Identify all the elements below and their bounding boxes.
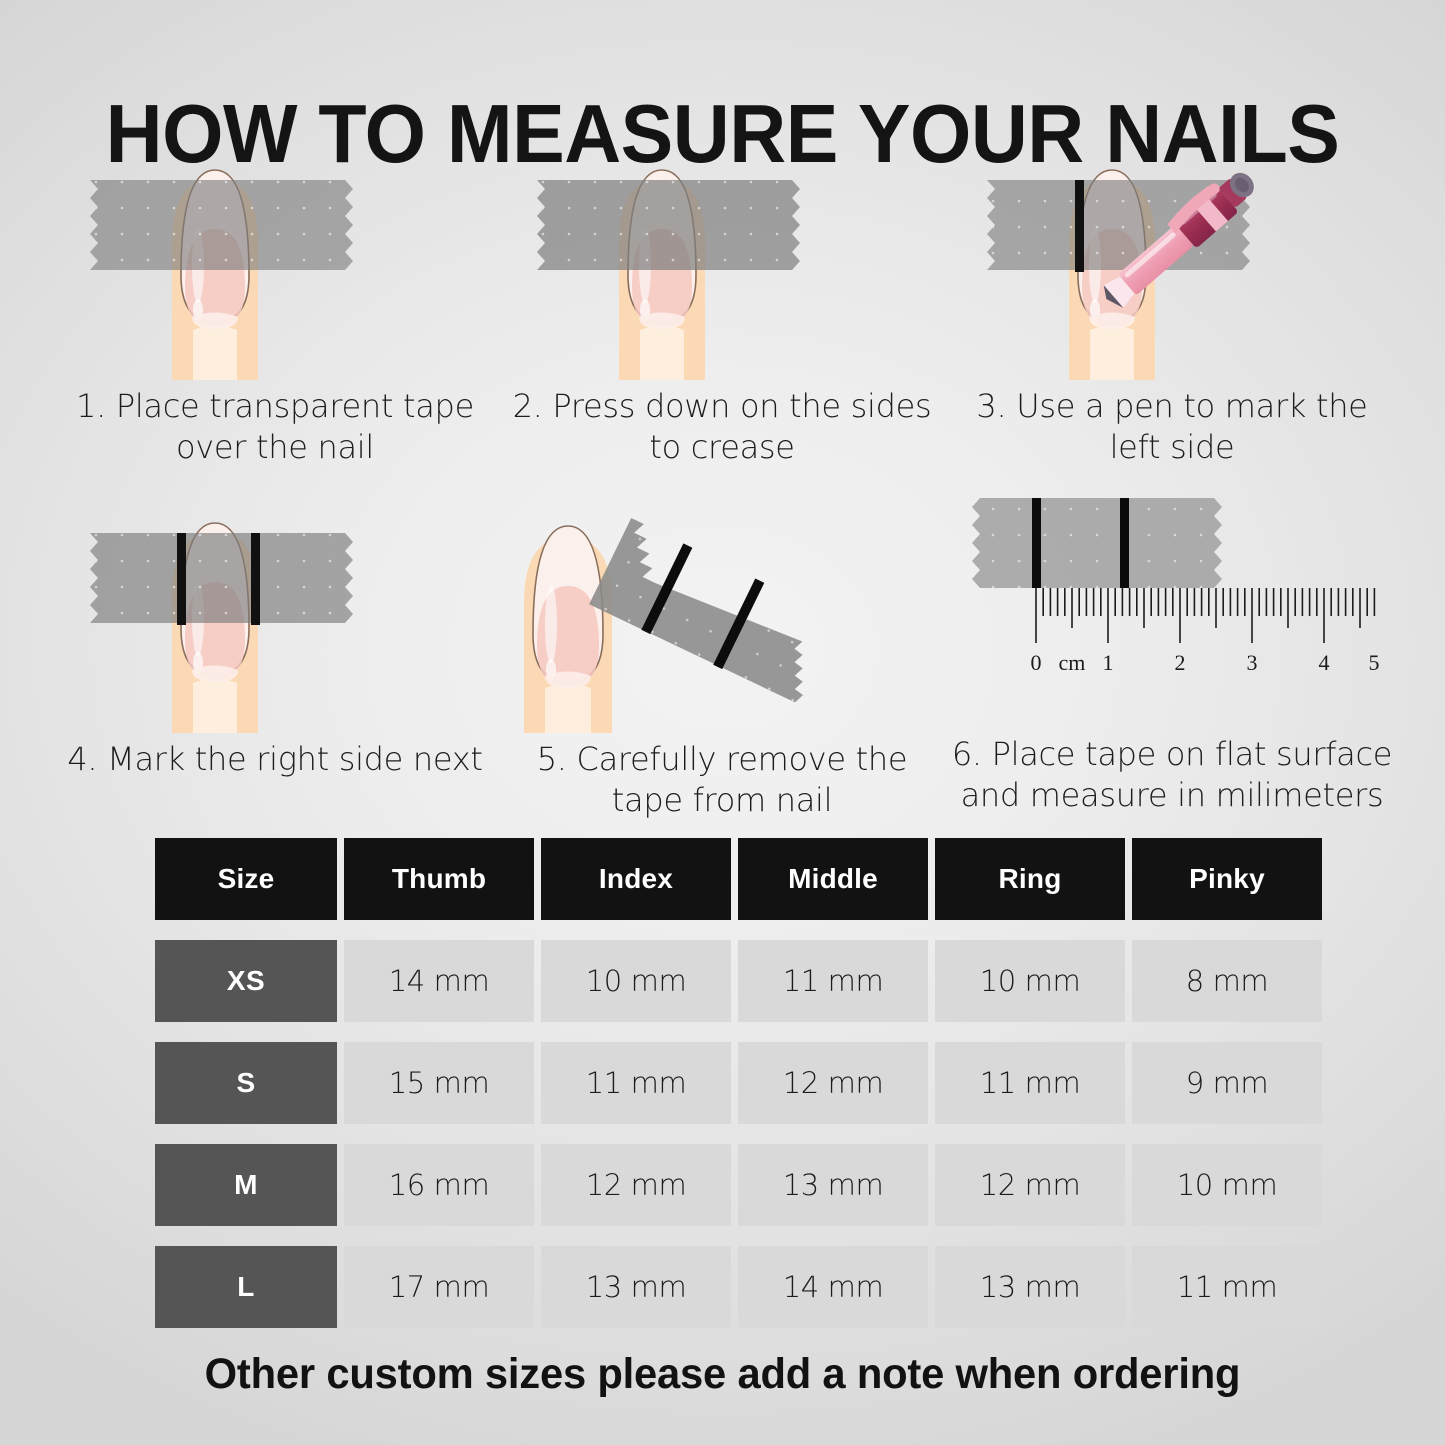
tape-graphic-peeled bbox=[589, 518, 840, 706]
table-cell: 10 mm bbox=[935, 940, 1125, 1022]
table-cell: 13 mm bbox=[541, 1246, 731, 1328]
step-5-caption: 5. Carefully remove the tape from nail bbox=[512, 739, 932, 821]
step-4: 4. Mark the right side next bbox=[65, 478, 485, 780]
step-3-illustration bbox=[962, 118, 1382, 380]
table-row-size-l: L bbox=[155, 1246, 337, 1328]
table-cell: 8 mm bbox=[1132, 940, 1322, 1022]
tape-graphic-creased bbox=[537, 180, 800, 270]
table-cell: 11 mm bbox=[541, 1042, 731, 1124]
ruler-label-4: 4 bbox=[1319, 650, 1330, 675]
tape-graphic bbox=[972, 498, 1222, 588]
table-cell: 11 mm bbox=[738, 940, 928, 1022]
table-cell: 12 mm bbox=[541, 1144, 731, 1226]
step-5-illustration bbox=[512, 478, 932, 733]
step-6-illustration: 0 cm 1 2 3 4 5 bbox=[962, 478, 1382, 728]
step-1-caption: 1. Place transparent tape over the nail bbox=[65, 386, 485, 468]
step-6-caption: 6. Place tape on flat surface and measur… bbox=[947, 734, 1397, 816]
step-2-caption: 2. Press down on the sides to crease bbox=[512, 386, 932, 468]
finger-graphic bbox=[524, 526, 612, 733]
table-header-thumb: Thumb bbox=[344, 838, 534, 920]
table-cell: 14 mm bbox=[738, 1246, 928, 1328]
ruler-label-3: 3 bbox=[1247, 650, 1258, 675]
ruler-label-2: 2 bbox=[1175, 650, 1186, 675]
footer-note: Other custom sizes please add a note whe… bbox=[22, 1350, 1424, 1399]
table-header-middle: Middle bbox=[738, 838, 928, 920]
table-header-size: Size bbox=[155, 838, 337, 920]
mark-b bbox=[1120, 498, 1129, 588]
table-cell: 12 mm bbox=[738, 1042, 928, 1124]
tape-graphic bbox=[90, 180, 353, 270]
ruler-label-5: 5 bbox=[1369, 650, 1380, 675]
step-2-illustration bbox=[512, 125, 932, 380]
step-3: 3. Use a pen to mark the left side bbox=[962, 118, 1382, 468]
table-cell: 9 mm bbox=[1132, 1042, 1322, 1124]
step-4-illustration bbox=[65, 478, 485, 733]
size-chart-table: Size Thumb Index Middle Ring Pinky XS 14… bbox=[155, 838, 1307, 1328]
step-4-caption: 4. Mark the right side next bbox=[65, 739, 485, 780]
table-row-size-s: S bbox=[155, 1042, 337, 1124]
ruler-unit: cm bbox=[1059, 650, 1086, 675]
step-5: 5. Carefully remove the tape from nail bbox=[512, 478, 932, 821]
ruler-label-1: 1 bbox=[1103, 650, 1114, 675]
table-row-size-xs: XS bbox=[155, 940, 337, 1022]
table-cell: 14 mm bbox=[344, 940, 534, 1022]
table-cell: 17 mm bbox=[344, 1246, 534, 1328]
step-1: 1. Place transparent tape over the nail bbox=[65, 125, 485, 468]
infographic-page: HOW TO MEASURE YOUR NAILS bbox=[0, 0, 1445, 1445]
mark-left bbox=[1075, 180, 1084, 272]
table-header-ring: Ring bbox=[935, 838, 1125, 920]
step-2: 2. Press down on the sides to crease bbox=[512, 125, 932, 468]
table-cell: 11 mm bbox=[935, 1042, 1125, 1124]
step-6: 0 cm 1 2 3 4 5 6. Place tape on flat sur… bbox=[962, 478, 1382, 816]
table-cell: 11 mm bbox=[1132, 1246, 1322, 1328]
step-3-caption: 3. Use a pen to mark the left side bbox=[962, 386, 1382, 468]
ruler-graphic bbox=[1036, 588, 1374, 643]
table-cell: 10 mm bbox=[541, 940, 731, 1022]
table-cell: 10 mm bbox=[1132, 1144, 1322, 1226]
table-cell: 16 mm bbox=[344, 1144, 534, 1226]
ruler-labels: 0 cm 1 2 3 4 5 bbox=[1031, 650, 1380, 675]
mark-right bbox=[251, 533, 260, 625]
table-row-size-m: M bbox=[155, 1144, 337, 1226]
table-cell: 13 mm bbox=[935, 1246, 1125, 1328]
tape-graphic bbox=[90, 533, 353, 623]
table-header-index: Index bbox=[541, 838, 731, 920]
table-header-pinky: Pinky bbox=[1132, 838, 1322, 920]
ruler-label-0: 0 bbox=[1031, 650, 1042, 675]
mark-a bbox=[1032, 498, 1041, 588]
table-cell: 15 mm bbox=[344, 1042, 534, 1124]
mark-left bbox=[177, 533, 186, 625]
table-cell: 12 mm bbox=[935, 1144, 1125, 1226]
table-cell: 13 mm bbox=[738, 1144, 928, 1226]
step-1-illustration bbox=[65, 125, 485, 380]
